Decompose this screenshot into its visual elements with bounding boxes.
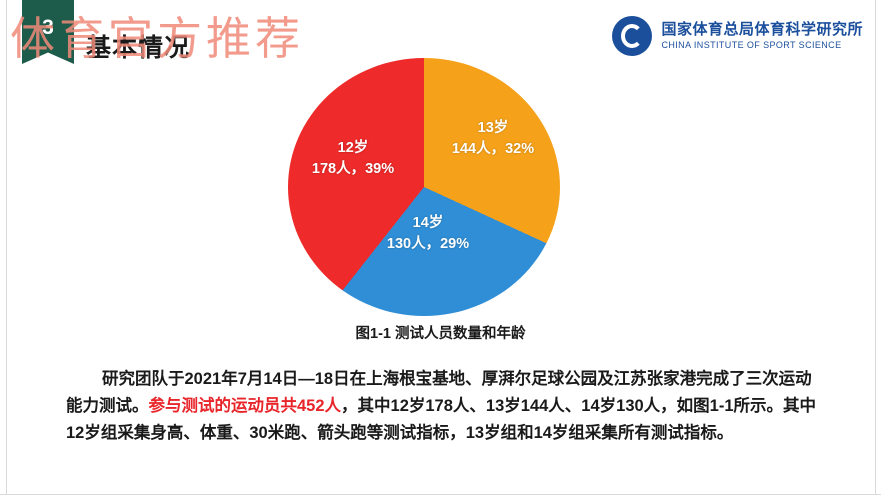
pie-slice-label-12: 12岁 178人，39%	[298, 138, 408, 180]
pie-slice-value-13: 144人，32%	[438, 139, 548, 160]
pie-slice-label-13: 13岁 144人，32%	[438, 118, 548, 160]
body-line-2b: ，其中12岁178人、13岁144人、	[341, 397, 581, 415]
slide-bottom-border	[0, 494, 881, 500]
logo-name-cn: 国家体育总局体育科学研究所	[661, 21, 863, 39]
body-line-4: 13岁组和14岁组采集所有测试指标。	[466, 424, 734, 442]
body-paragraph: 研究团队于2021年7月14日—18日在上海根宝基地、厚湃尔足球公园及江苏张家港…	[66, 366, 826, 447]
slide-right-border	[875, 0, 881, 500]
pie-slice-value-12: 178人，39%	[298, 159, 408, 180]
section-number: 3	[22, 0, 74, 56]
page-title: 基本情况	[86, 28, 190, 64]
organization-logo: 国家体育总局体育科学研究所 CHINA INSTITUTE OF SPORT S…	[612, 16, 863, 56]
slide-left-border	[0, 0, 7, 500]
pie-slice-name-13: 13岁	[438, 118, 548, 139]
logo-name-en: CHINA INSTITUTE OF SPORT SCIENCE	[661, 39, 863, 52]
pie-slice-name-14: 14岁	[373, 213, 483, 234]
pie-slice-name-12: 12岁	[298, 138, 408, 159]
figure-caption: 图1-1 测试人员数量和年龄	[0, 322, 881, 343]
sport-science-institute-logo-icon	[612, 16, 652, 56]
body-highlight: 参与测试的运动员共452人	[149, 397, 342, 415]
pie-slice-label-14: 14岁 130人，29%	[373, 213, 483, 255]
slide-page: 3 基本情况 体育官方推荐 国家体育总局体育科学研究所 CHINA INSTIT…	[0, 0, 881, 500]
pie-slice-value-14: 130人，29%	[373, 234, 483, 255]
pie-chart-slices	[288, 58, 560, 316]
pie-chart: 13岁 144人，32% 12岁 178人，39% 14岁 130人，29%	[288, 58, 560, 316]
body-line-1: 研究团队于2021年7月14日—18日在上海根宝基地、厚湃尔足球公园及江苏张家港	[102, 370, 696, 388]
